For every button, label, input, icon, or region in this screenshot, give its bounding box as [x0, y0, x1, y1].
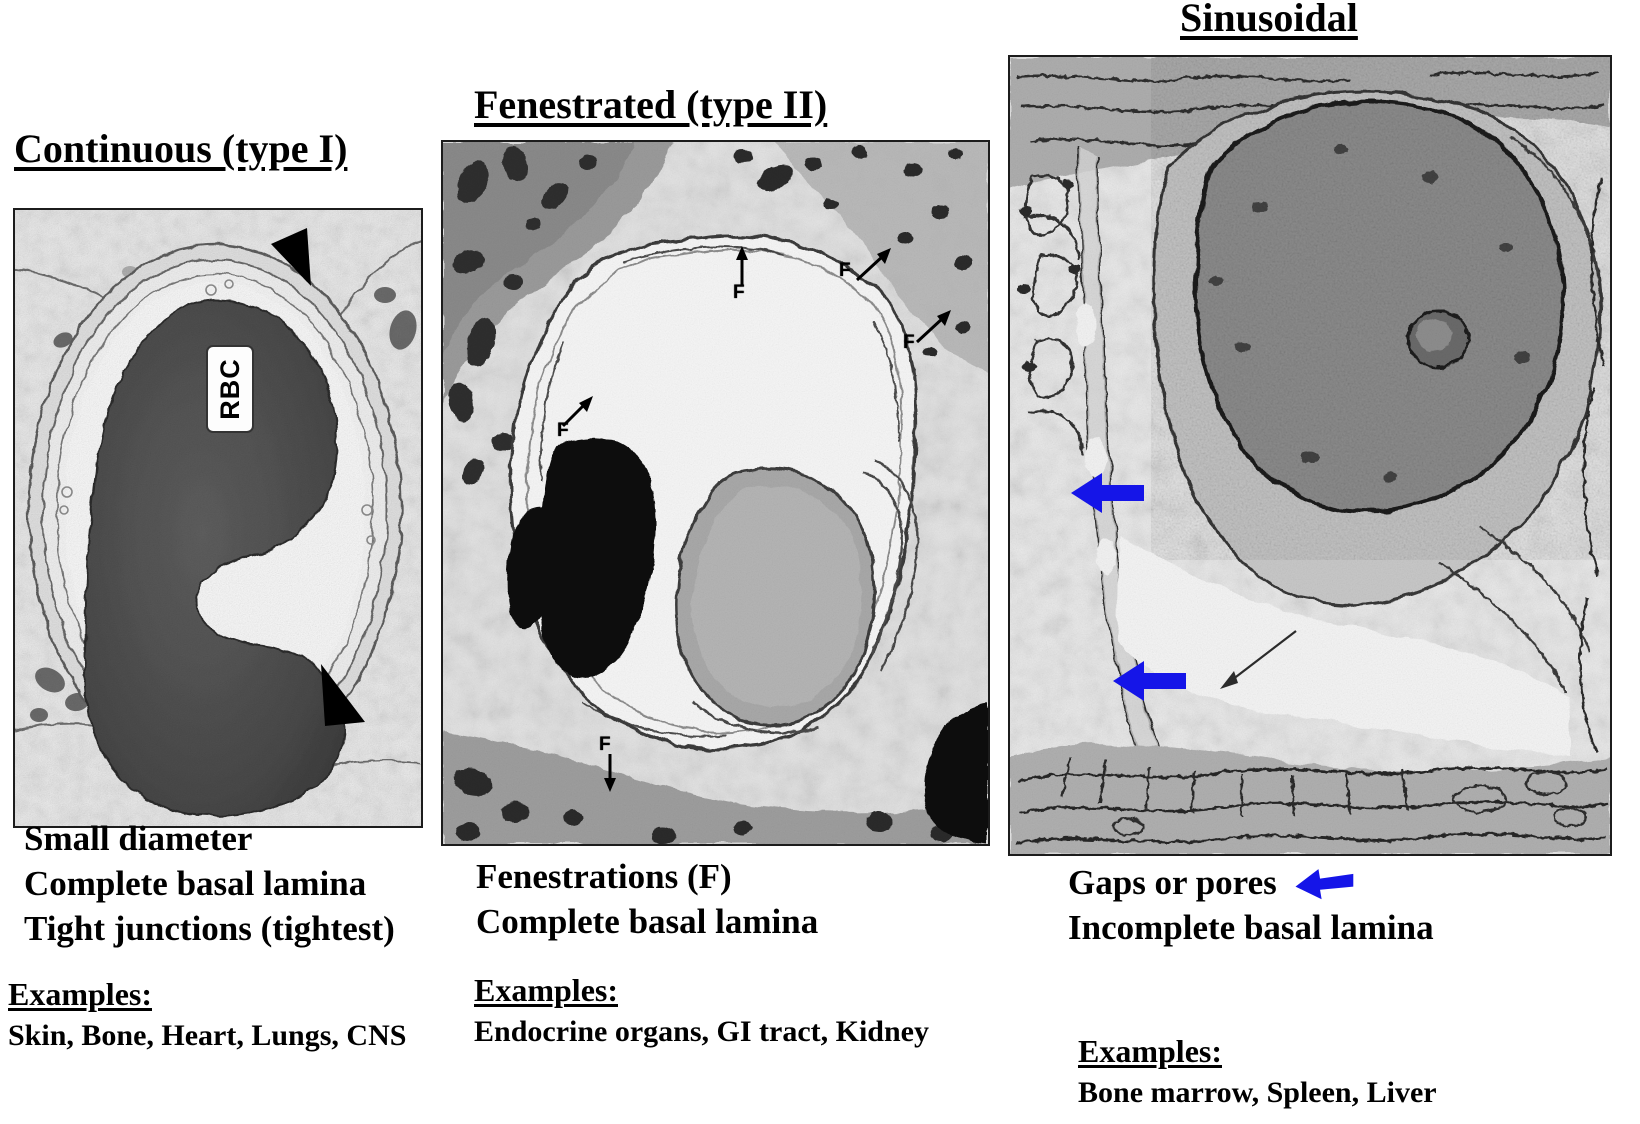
- feature-line-3-2: Incomplete basal lamina: [1068, 907, 1434, 948]
- blue-arrow-icon-lower: [1110, 657, 1188, 705]
- arrowhead-icon-upper: [267, 224, 319, 296]
- fenestration-label-3: F: [903, 332, 915, 354]
- fenestrated-capillary-micrograph: F F F F F: [441, 140, 990, 846]
- fenestration-arrow-2: [855, 246, 893, 282]
- feature-line-1-1: Small diameter: [24, 818, 252, 859]
- fenestration-arrow-3: [915, 308, 953, 344]
- title-continuous: Continuous (type I): [14, 128, 347, 170]
- continuous-capillary-micrograph: RBC: [13, 208, 423, 828]
- micrograph-image-3: [1010, 57, 1610, 854]
- fenestration-arrow-5: [599, 754, 621, 792]
- examples-list-2: Endocrine organs, GI tract, Kidney: [474, 1015, 929, 1049]
- arrowhead-icon-lower: [315, 658, 373, 734]
- fenestration-label-4: F: [557, 420, 569, 442]
- fenestration-label-5: F: [599, 734, 611, 756]
- feature-line-1-2: Complete basal lamina: [24, 863, 366, 904]
- feature-line-2-2: Complete basal lamina: [476, 901, 818, 942]
- feature-line-2-1: Fenestrations (F): [476, 856, 732, 897]
- fenestration-label-1: F: [733, 282, 745, 304]
- rbc-label: RBC: [206, 345, 254, 433]
- title-sinusoidal: Sinusoidal: [1180, 0, 1358, 39]
- feature-line-1-3: Tight junctions (tightest): [24, 908, 395, 949]
- examples-list-1: Skin, Bone, Heart, Lungs, CNS: [8, 1019, 406, 1053]
- gaps-or-pores-row: Gaps or pores: [1068, 862, 1355, 904]
- examples-label-1: Examples:: [8, 976, 152, 1013]
- thin-arrow-icon: [1210, 627, 1300, 691]
- rbc-label-text: RBC: [215, 358, 246, 420]
- examples-list-3: Bone marrow, Spleen, Liver: [1078, 1076, 1437, 1110]
- examples-label-3: Examples:: [1078, 1033, 1222, 1070]
- blue-arrow-icon-caption: [1293, 866, 1355, 904]
- title-fenestrated: Fenestrated (type II): [474, 84, 827, 126]
- sinusoidal-capillary-micrograph: [1008, 55, 1612, 856]
- blue-arrow-icon-upper: [1068, 469, 1146, 517]
- micrograph-image-2: [443, 142, 988, 844]
- fenestration-label-2: F: [839, 260, 851, 282]
- examples-label-2: Examples:: [474, 972, 618, 1009]
- feature-line-3-1: Gaps or pores: [1068, 862, 1277, 903]
